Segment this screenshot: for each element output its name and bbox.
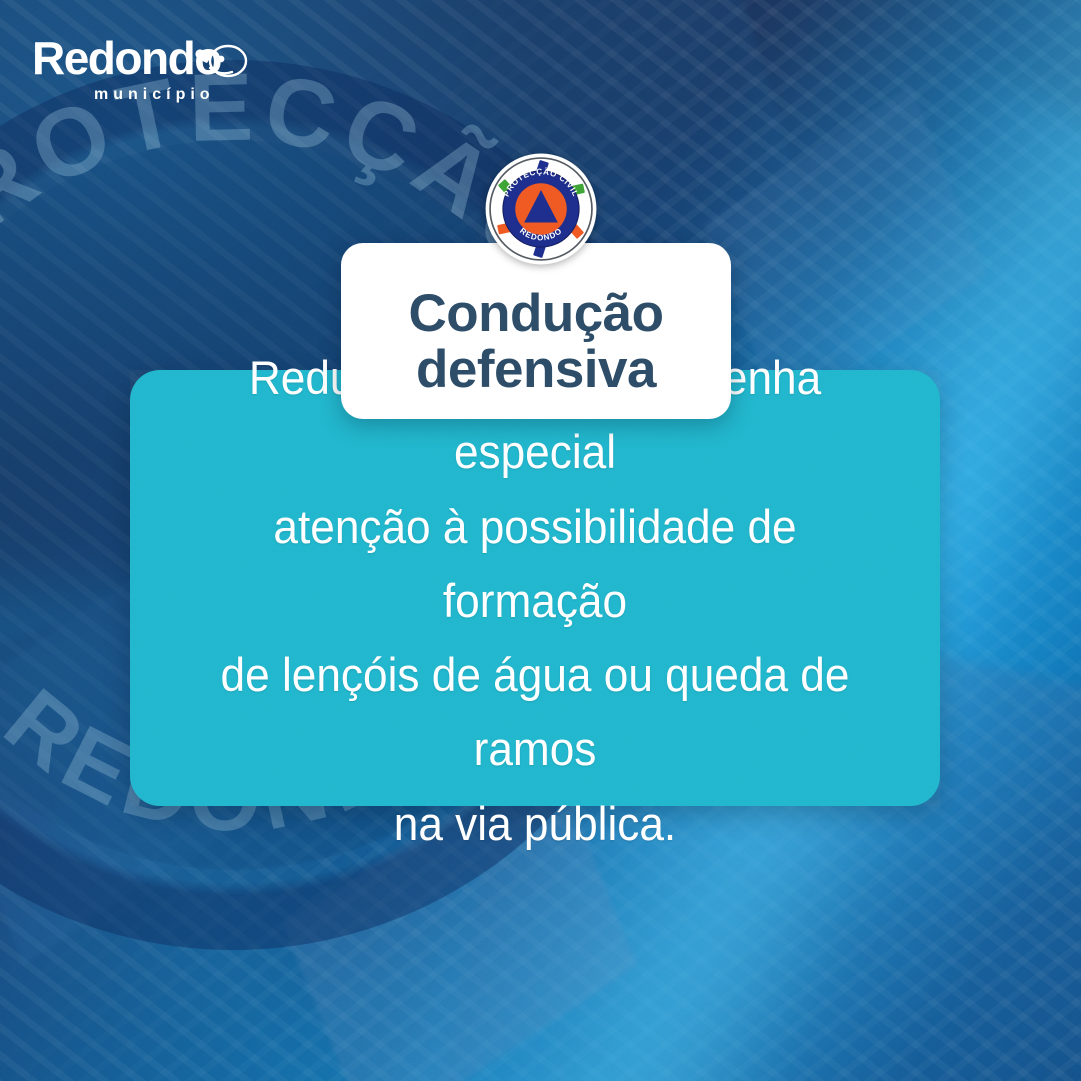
title-line: Condução bbox=[408, 284, 663, 343]
body-card: Reduza a velocidade e tenha especialaten… bbox=[130, 370, 940, 806]
body-message: Reduza a velocidade e tenha especialaten… bbox=[154, 341, 915, 861]
body-line: atenção à possibilidade de formação bbox=[273, 500, 796, 627]
redondo-municipio-logo[interactable]: Redondo município bbox=[32, 30, 272, 108]
logo-subtitle: município bbox=[94, 86, 215, 103]
title-card: Conduçãodefensiva bbox=[341, 243, 731, 419]
page-title: Conduçãodefensiva bbox=[390, 286, 681, 398]
poster-canvas: PROTECÇÃO REDONDO Redondo município bbox=[0, 0, 1081, 1081]
body-line: na via pública. bbox=[394, 797, 676, 850]
civil-protection-badge[interactable]: PROTECÇÃO CIVIL REDONDO bbox=[485, 153, 597, 265]
logo-wordmark: Redondo bbox=[32, 32, 221, 84]
body-line: de lençóis de água ou queda de ramos bbox=[221, 648, 850, 775]
title-line: defensiva bbox=[416, 340, 656, 399]
